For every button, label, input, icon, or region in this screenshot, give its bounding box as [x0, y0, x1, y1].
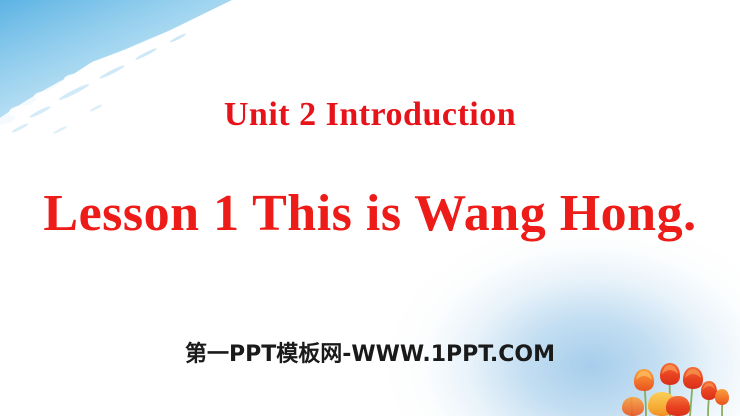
sky-svg	[0, 0, 320, 190]
presentation-slide: Unit 2 Introduction Lesson 1 This is Wan…	[0, 0, 740, 416]
site-watermark-footer: 第一PPT模板网-WWW.1PPT.COM	[0, 336, 740, 368]
unit-title: Unit 2 Introduction	[0, 96, 740, 134]
lesson-title: Lesson 1 This is Wang Hong.	[0, 184, 740, 243]
flower-heads	[622, 363, 729, 416]
flower-stems	[631, 374, 723, 416]
cloud-band	[0, 13, 238, 170]
sky-mist	[0, 0, 320, 190]
sky-fade-mask	[0, 0, 320, 190]
sky-decoration	[0, 0, 320, 190]
